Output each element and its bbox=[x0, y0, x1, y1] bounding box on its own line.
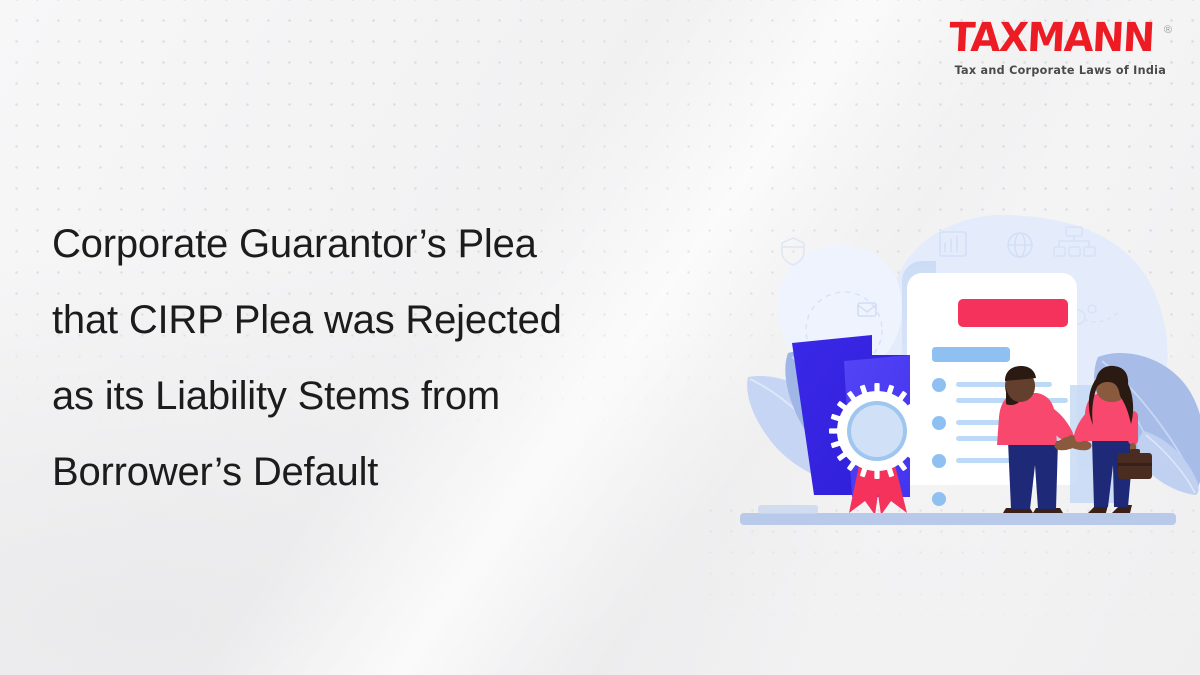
page-title: Corporate Guarantor’s Plea that CIRP Ple… bbox=[52, 206, 712, 510]
taxmann-logo[interactable]: TAXMANN® Tax and Corporate Laws of India bbox=[949, 18, 1172, 76]
shield-icon bbox=[782, 238, 804, 265]
hero-illustration bbox=[740, 195, 1200, 535]
headline-line-1: Corporate Guarantor’s Plea bbox=[52, 206, 712, 282]
article-banner: TAXMANN® Tax and Corporate Laws of India… bbox=[0, 0, 1200, 675]
brand-tagline: Tax and Corporate Laws of India bbox=[949, 65, 1172, 76]
floor-bar bbox=[740, 513, 1176, 525]
document-title-bar bbox=[958, 299, 1068, 327]
headline-line-2: that CIRP Plea was Rejected bbox=[52, 282, 712, 358]
headline-line-4: Borrower’s Default bbox=[52, 434, 712, 510]
registered-trademark-icon: ® bbox=[1164, 25, 1173, 36]
document-subtitle-bar bbox=[932, 347, 1010, 362]
headline-line-3: as its Liability Stems from bbox=[52, 358, 712, 434]
brand-wordmark: TAXMANN bbox=[948, 18, 1155, 58]
